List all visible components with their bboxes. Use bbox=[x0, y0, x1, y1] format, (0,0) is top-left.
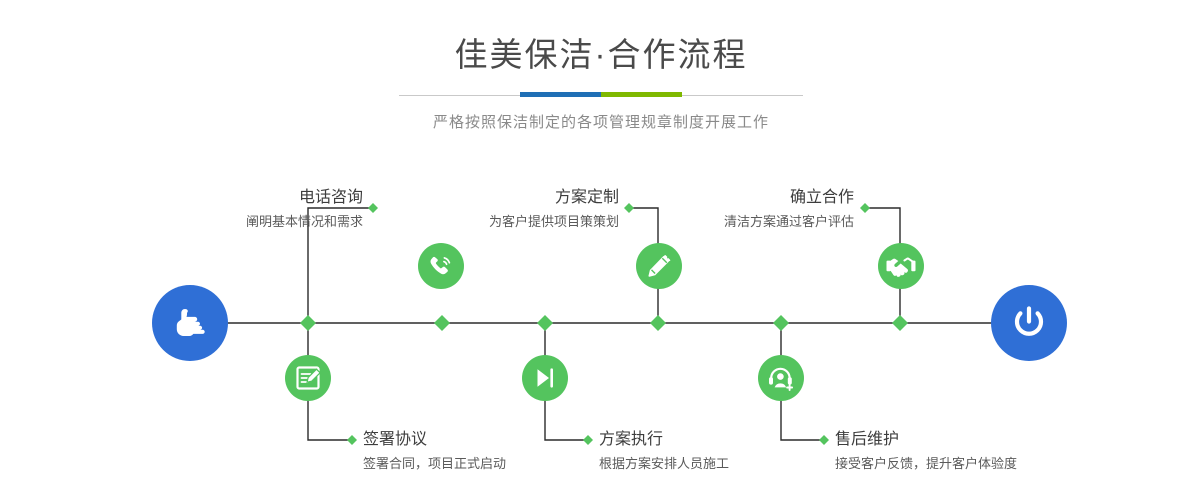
step-title: 售后维护 bbox=[835, 430, 1075, 449]
step-desc: 接受客户反馈，提升客户体验度 bbox=[835, 456, 1075, 472]
timeline-start-node[interactable] bbox=[152, 285, 228, 361]
step-desc: 清洁方案通过客户评估 bbox=[672, 214, 854, 230]
timeline-connectors bbox=[0, 0, 1202, 502]
step-label-1: 电话咨询 阐明基本情况和需求 bbox=[185, 188, 363, 230]
step-desc: 根据方案安排人员施工 bbox=[599, 456, 819, 472]
step-desc: 阐明基本情况和需求 bbox=[185, 214, 363, 230]
document-sign-icon bbox=[295, 365, 321, 391]
pencil-design-icon bbox=[645, 252, 673, 280]
process-flow-diagram: 电话咨询 阐明基本情况和需求 方案定制 为客户提供项目策策划 确立合作 清洁方案… bbox=[0, 0, 1202, 502]
step-icon-handshake[interactable] bbox=[878, 243, 924, 289]
step-label-3: 方案定制 为客户提供项目策策划 bbox=[441, 188, 619, 230]
label-diamond-markers bbox=[347, 203, 870, 445]
step-title: 方案执行 bbox=[599, 430, 819, 449]
step-title: 签署协议 bbox=[363, 430, 583, 449]
step-desc: 为客户提供项目策策划 bbox=[441, 214, 619, 230]
step-icon-phone-call[interactable] bbox=[418, 243, 464, 289]
step-label-6: 售后维护 接受客户反馈，提升客户体验度 bbox=[835, 430, 1075, 472]
step-title: 确立合作 bbox=[672, 188, 854, 207]
step-label-4: 方案执行 根据方案安排人员施工 bbox=[599, 430, 819, 472]
phone-call-icon bbox=[427, 252, 455, 280]
step-title: 方案定制 bbox=[441, 188, 619, 207]
step-icon-document-sign[interactable] bbox=[285, 355, 331, 401]
step-label-2: 签署协议 签署合同，项目正式启动 bbox=[363, 430, 583, 472]
handshake-icon bbox=[886, 252, 916, 280]
step-label-5: 确立合作 清洁方案通过客户评估 bbox=[672, 188, 854, 230]
pointing-hand-icon bbox=[168, 303, 212, 343]
step-icon-customer-service[interactable] bbox=[758, 355, 804, 401]
step-title: 电话咨询 bbox=[185, 188, 363, 207]
step-icon-play-execute[interactable] bbox=[522, 355, 568, 401]
step-icon-pencil-design[interactable] bbox=[636, 243, 682, 289]
customer-service-icon bbox=[767, 364, 795, 392]
step-desc: 签署合同，项目正式启动 bbox=[363, 456, 583, 472]
power-icon bbox=[1009, 303, 1049, 343]
timeline-end-node[interactable] bbox=[991, 285, 1067, 361]
play-execute-icon bbox=[532, 365, 558, 391]
